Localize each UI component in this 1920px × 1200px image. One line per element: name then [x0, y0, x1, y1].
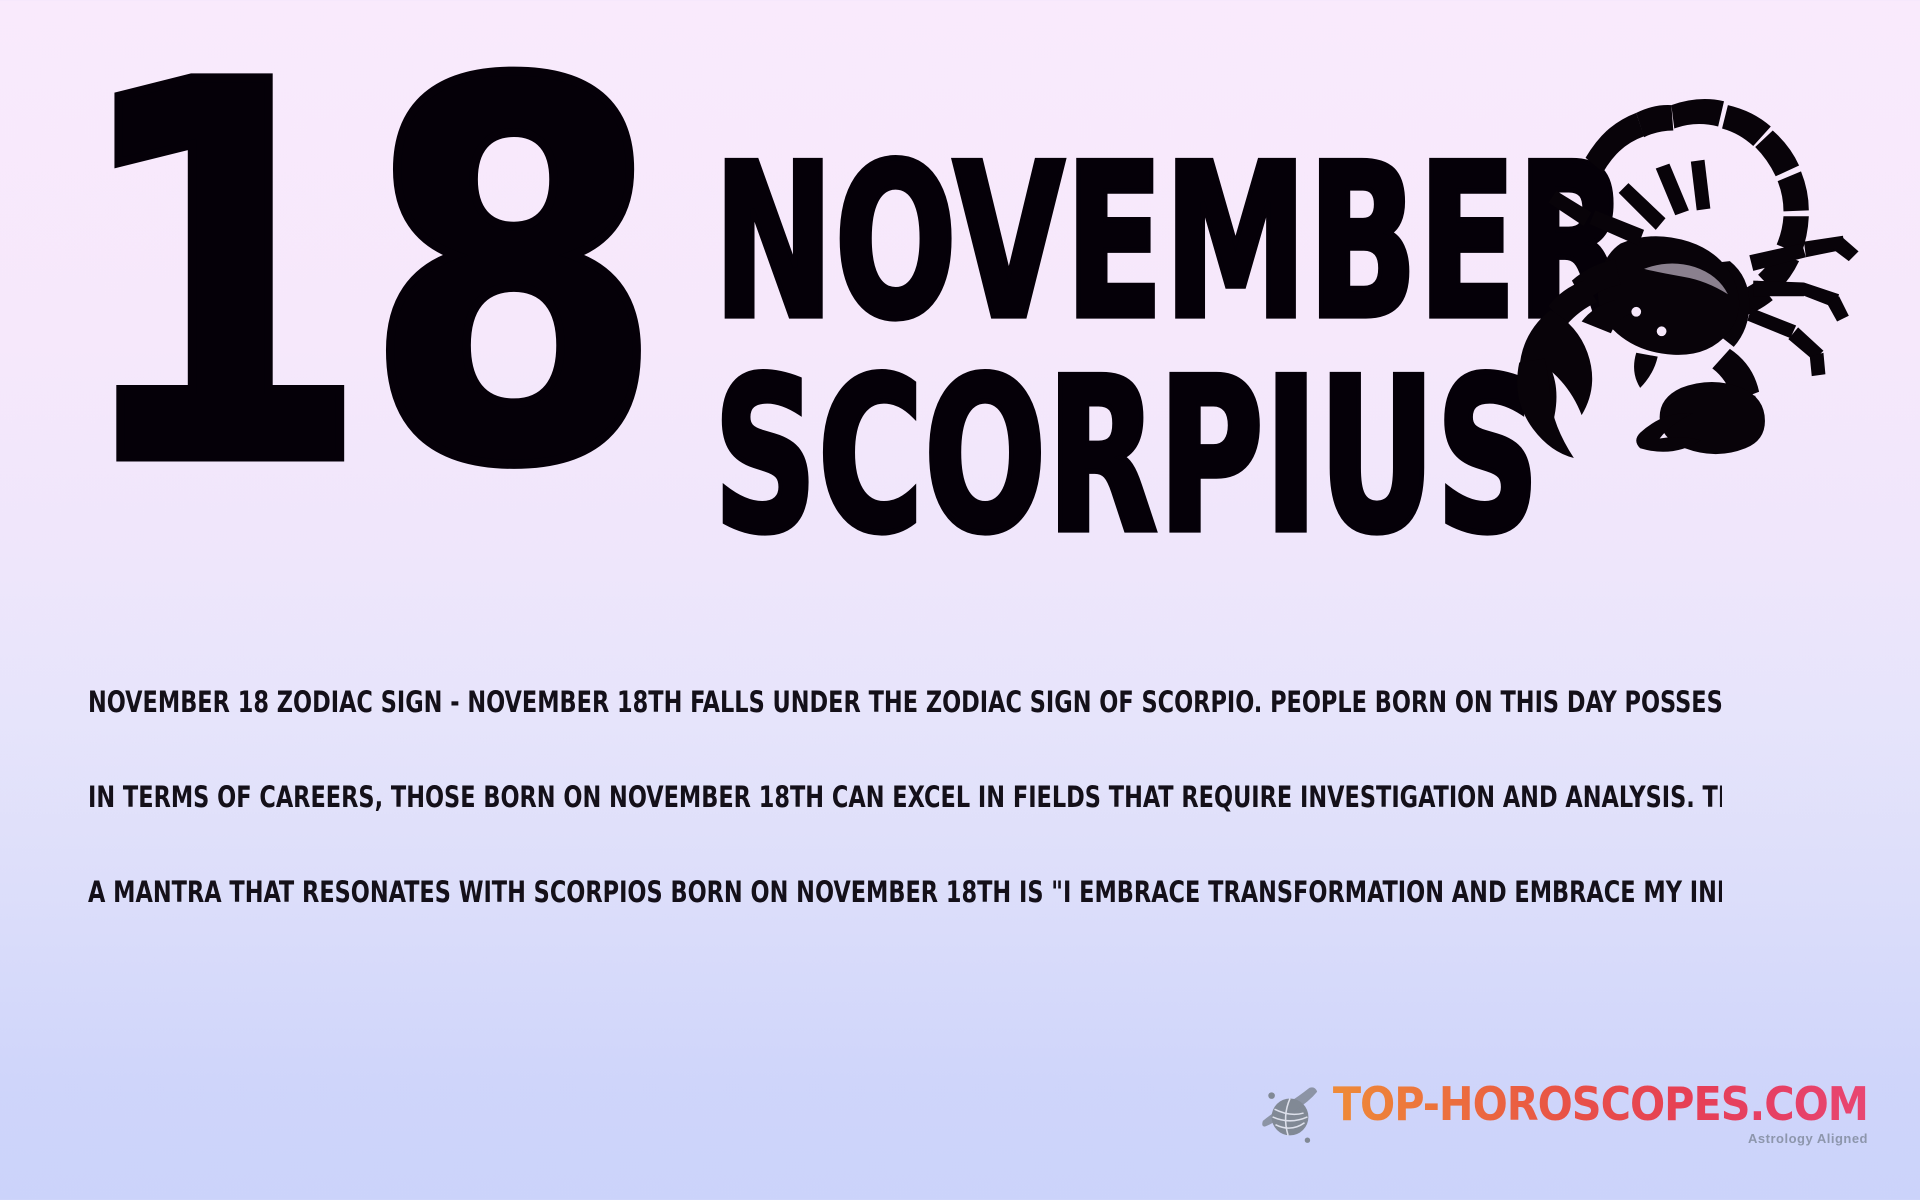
hero-banner: 18 NOVEMBER SCORPIUS — [0, 0, 1920, 600]
logo-wordmark: TOP-HOROSCOPES.COM — [1333, 1081, 1868, 1127]
scorpion-icon — [1490, 70, 1880, 460]
paragraph-2: IN TERMS OF CAREERS, THOSE BORN ON NOVEM… — [88, 783, 1722, 812]
site-logo[interactable]: TOP-HOROSCOPES.COM Astrology Aligned — [1259, 1081, 1868, 1148]
article-body: NOVEMBER 18 ZODIAC SIGN - NOVEMBER 18TH … — [88, 688, 1920, 973]
paragraph-1: NOVEMBER 18 ZODIAC SIGN - NOVEMBER 18TH … — [88, 688, 1722, 717]
constellation-title: SCORPIUS — [714, 353, 1520, 562]
logo-tagline: Astrology Aligned — [1333, 1131, 1868, 1146]
paragraph-3: A MANTRA THAT RESONATES WITH SCORPIOS BO… — [88, 878, 1722, 907]
planet-saturn-icon — [1259, 1084, 1321, 1146]
title-block: NOVEMBER SCORPIUS — [560, 150, 1520, 550]
month-title: NOVEMBER — [714, 139, 1520, 348]
logo-text-block: TOP-HOROSCOPES.COM Astrology Aligned — [1333, 1081, 1868, 1148]
